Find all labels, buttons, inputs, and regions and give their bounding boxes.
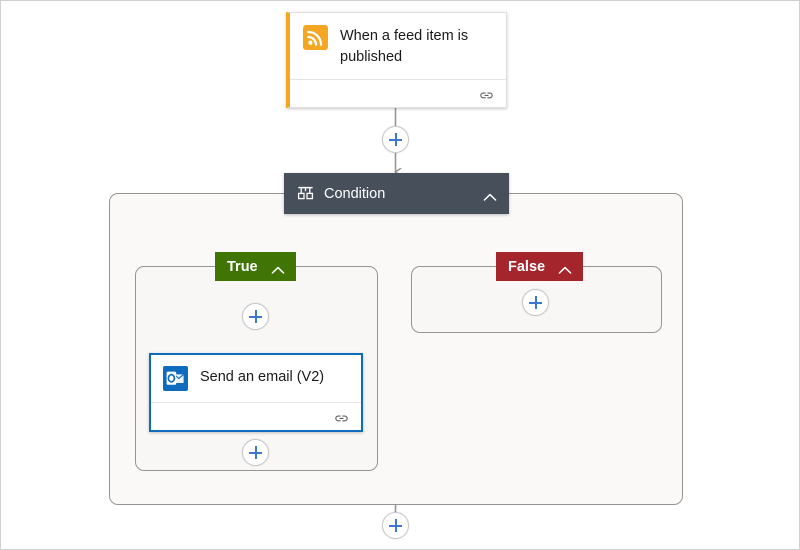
branch-badge-false[interactable]: False [496,252,583,281]
action-card-title: Send an email (V2) [200,366,324,388]
add-step-button-true-bottom[interactable] [242,439,269,466]
chevron-up-icon[interactable] [271,262,285,271]
action-card-body: Send an email (V2) [151,355,361,402]
rss-icon [303,25,328,50]
outlook-icon [163,366,188,391]
trigger-card-title: When a feed item is published [340,25,492,67]
branch-badge-true-label: True [227,259,258,275]
action-card-footer [151,402,361,430]
add-step-button-after-condition[interactable] [382,512,409,539]
link-icon[interactable] [334,411,349,422]
flow-designer-canvas: When a feed item is published [0,0,800,550]
add-step-button-false-branch[interactable] [522,289,549,316]
add-step-button-true-top[interactable] [242,303,269,330]
add-step-button-after-trigger[interactable] [382,126,409,153]
condition-label: Condition [324,186,483,202]
branch-badge-false-label: False [508,259,545,275]
link-icon[interactable] [479,88,494,99]
chevron-up-icon[interactable] [558,262,572,271]
branch-badge-true[interactable]: True [215,252,296,281]
condition-header[interactable]: Condition [284,173,509,214]
chevron-up-icon[interactable] [483,189,497,198]
trigger-card-rss[interactable]: When a feed item is published [286,12,507,108]
trigger-card-footer [290,79,506,107]
action-card-send-email[interactable]: Send an email (V2) [149,353,363,432]
condition-icon [297,185,314,202]
trigger-card-body: When a feed item is published [290,13,506,79]
